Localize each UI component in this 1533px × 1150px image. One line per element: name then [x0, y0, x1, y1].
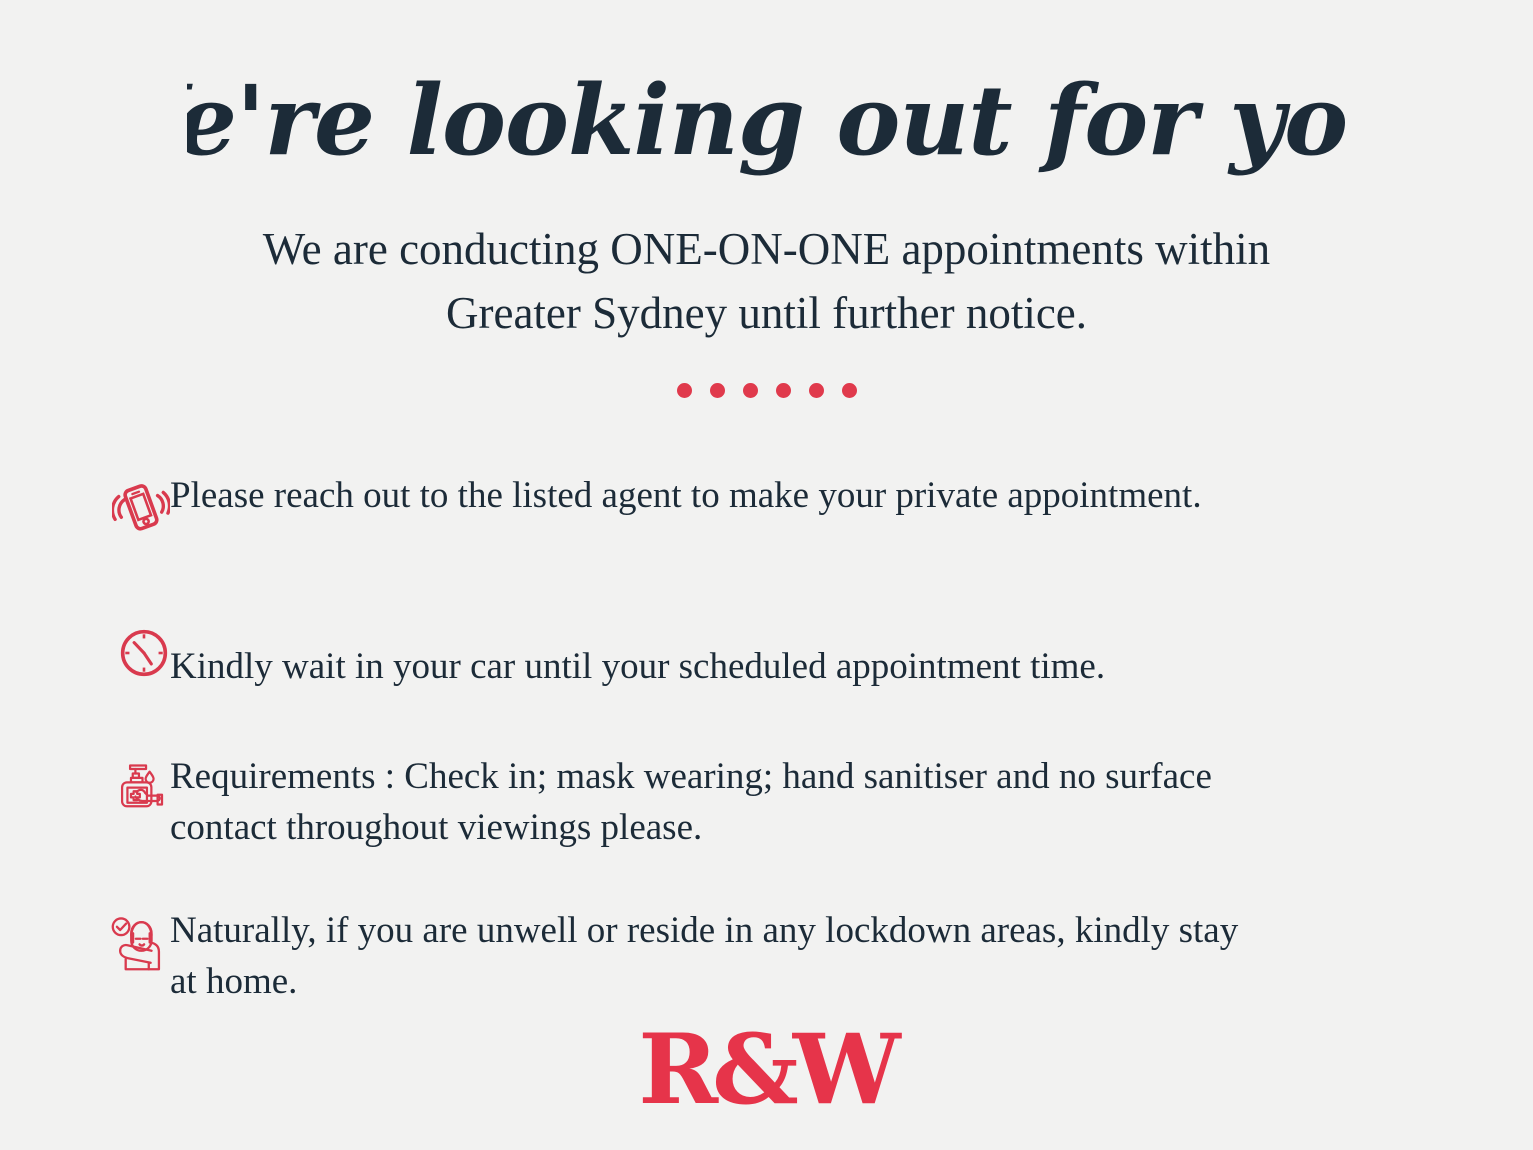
list-item: Requirements : Check in; mask wearing; h… [0, 723, 1533, 873]
list-item: Please reach out to the listed agent to … [0, 445, 1533, 595]
brand-logo: R&W [0, 1022, 1533, 1118]
separator-dot [743, 383, 758, 398]
list-item-text: Kindly wait in your car until your sched… [170, 595, 1225, 692]
list-item-text: Naturally, if you are unwell or reside i… [170, 873, 1380, 1007]
separator-dot [809, 383, 824, 398]
separator-dot [776, 383, 791, 398]
page-title: We're looking out for you! [0, 26, 1533, 206]
hand-sanitiser-icon [0, 723, 170, 841]
list-item: Kindly wait in your car until your sched… [0, 595, 1533, 723]
ringing-phone-icon [0, 445, 170, 565]
list-item-text: Please reach out to the listed agent to … [170, 445, 1322, 521]
page-title-text: We're looking out for you! [187, 64, 1347, 177]
poster-canvas: We're looking out for you! We are conduc… [0, 0, 1533, 1150]
list-item-text: Requirements : Check in; mask wearing; h… [170, 723, 1380, 853]
instruction-list: Please reach out to the listed agent to … [0, 445, 1533, 1013]
subheading-line-2: Greater Sydney until further notice. [216, 282, 1317, 346]
brand-logo-text: R&W [638, 1022, 894, 1118]
clock-icon [0, 595, 170, 703]
dot-separator [0, 383, 1533, 398]
list-item: Naturally, if you are unwell or reside i… [0, 873, 1533, 1013]
subheading-line-1: We are conducting ONE-ON-ONE appointment… [216, 218, 1317, 282]
cough-into-elbow-icon [0, 873, 170, 1001]
separator-dot [710, 383, 725, 398]
separator-dot [842, 383, 857, 398]
separator-dot [677, 383, 692, 398]
subheading: We are conducting ONE-ON-ONE appointment… [216, 218, 1317, 346]
